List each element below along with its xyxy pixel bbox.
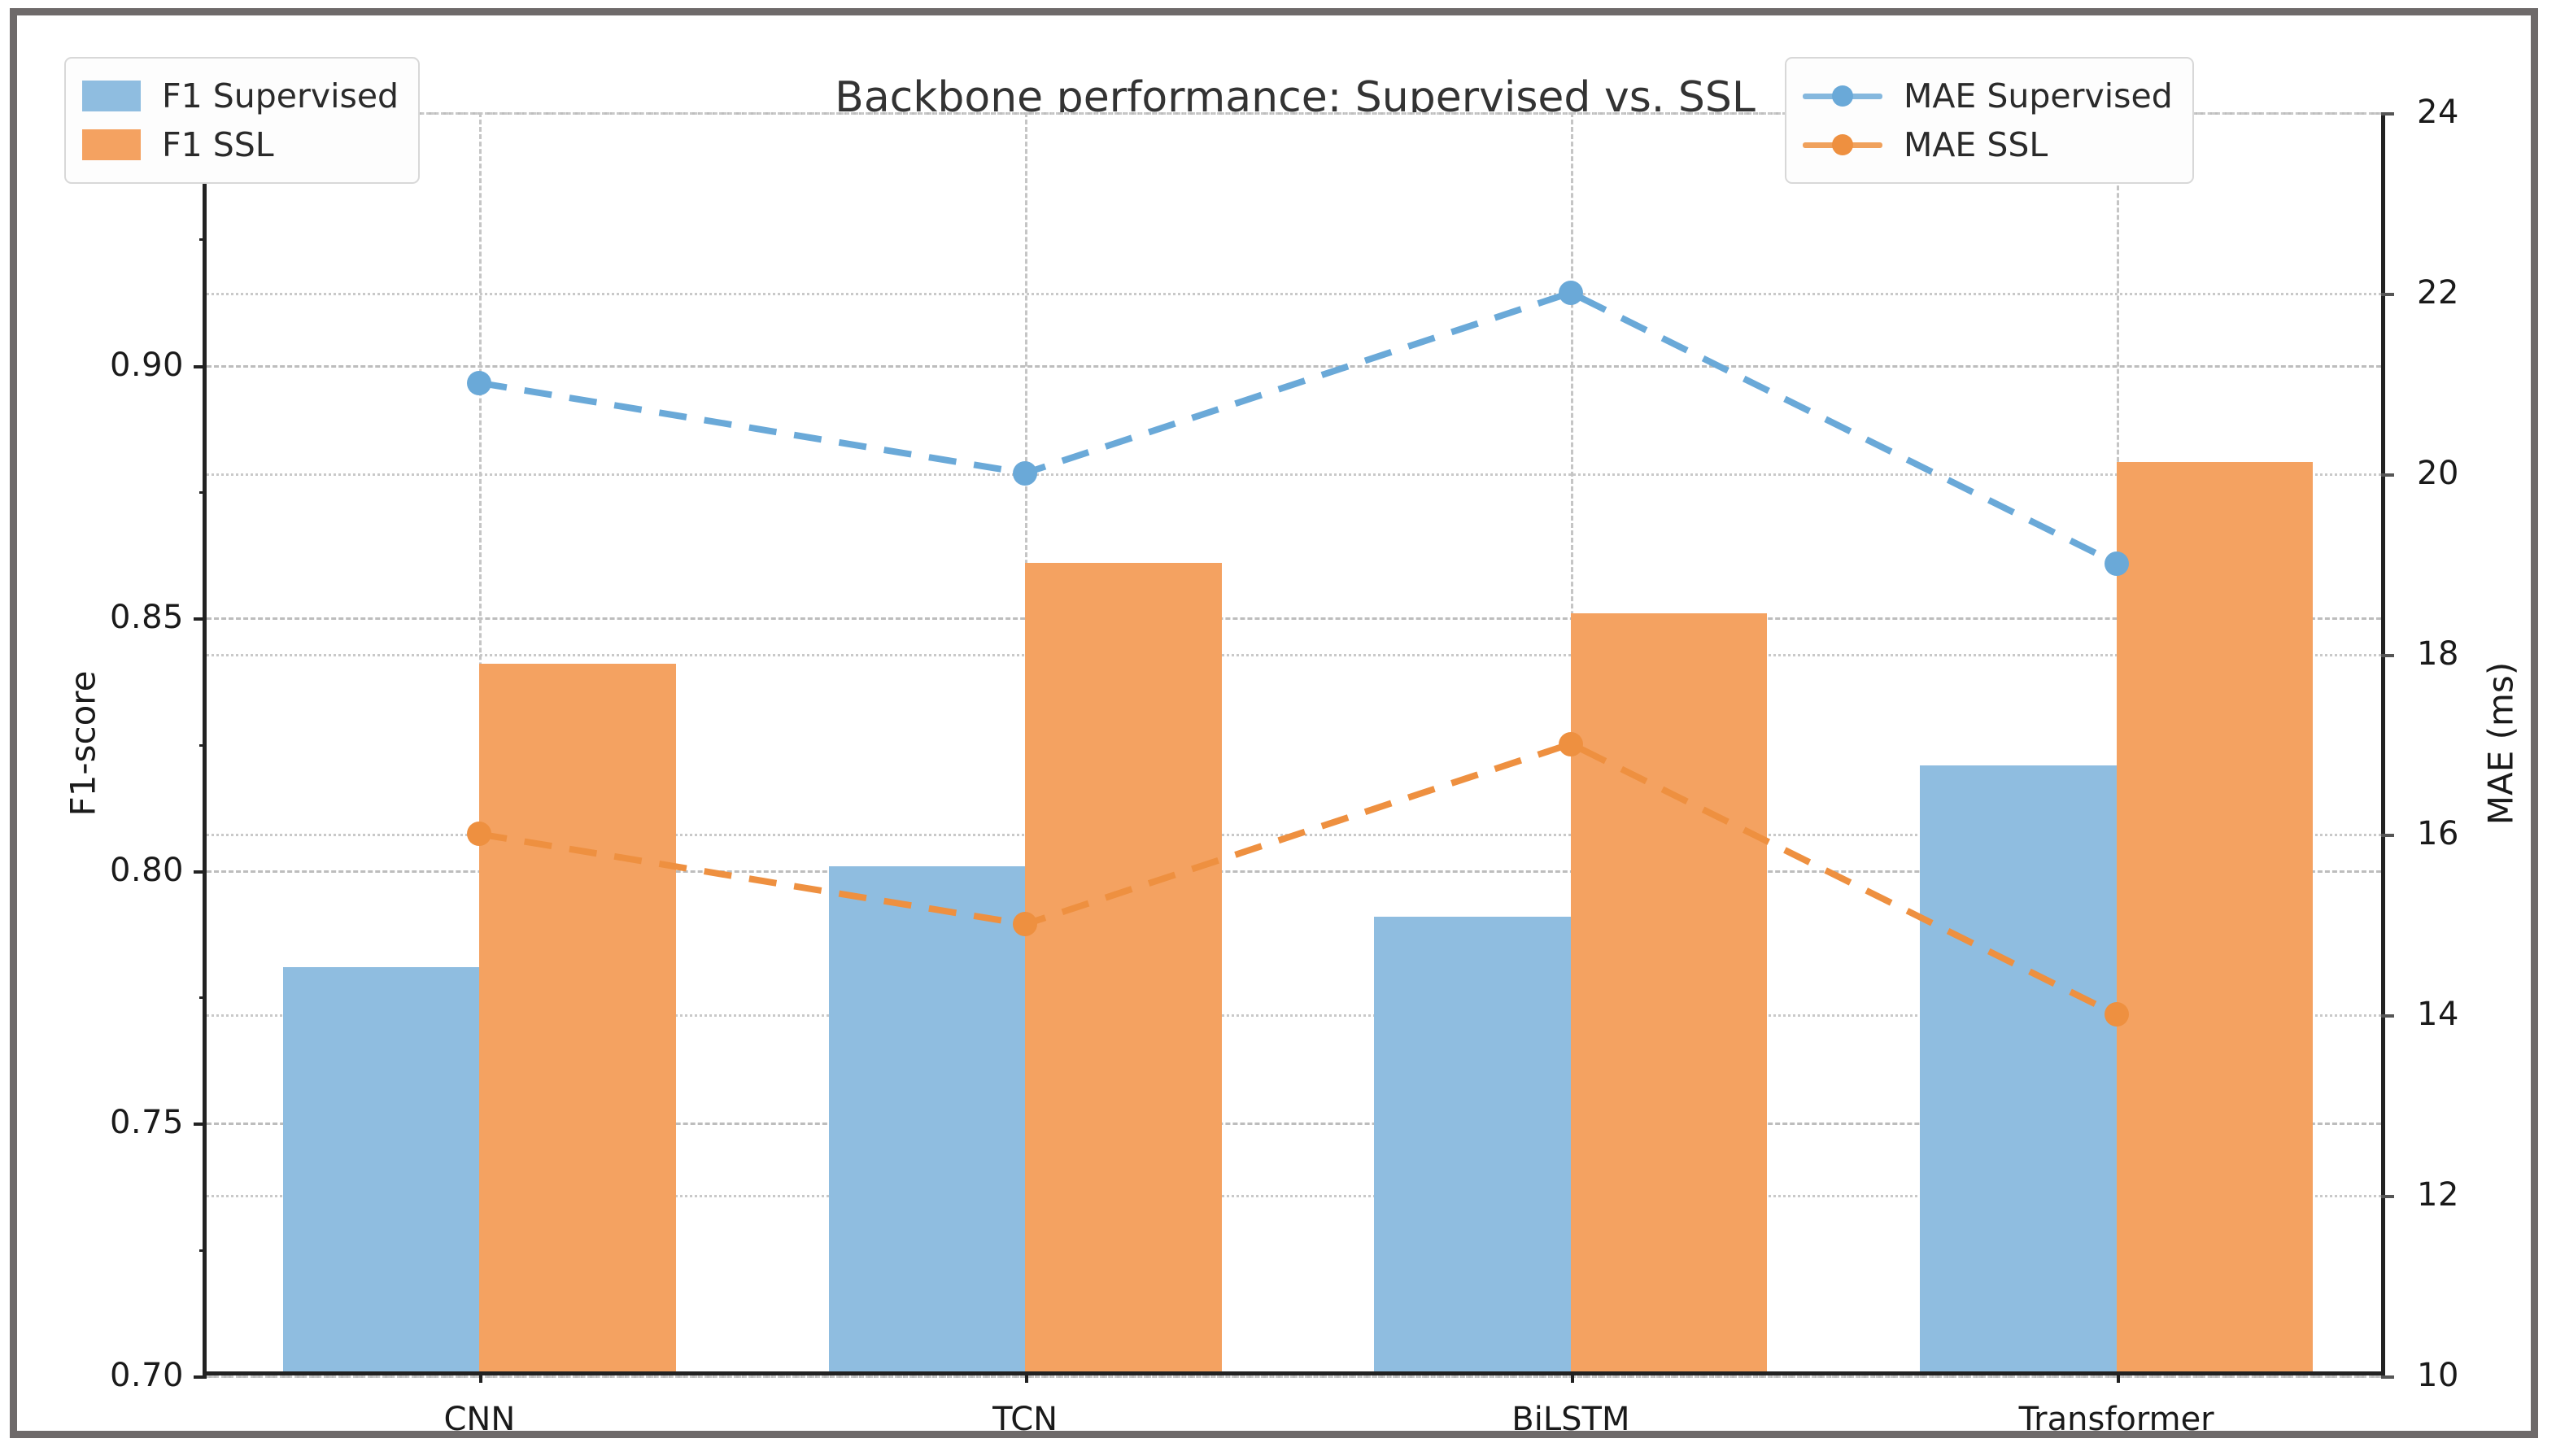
y-tick-label-right: 18	[2417, 635, 2459, 673]
gridline-horizontal	[207, 1375, 2381, 1378]
plot-inner: 0.700.750.800.850.900.95 101214161820222…	[207, 112, 2381, 1371]
legend-label-mae-supervised: MAE Supervised	[1904, 76, 2173, 116]
bar-cnn-f1-ssl	[479, 664, 675, 1371]
y-tick-label-right: 12	[2417, 1176, 2459, 1214]
legend-f1[interactable]: F1 Supervised F1 SSL	[64, 57, 420, 184]
y-tick-right	[2381, 293, 2394, 296]
y-tick-right	[2381, 473, 2394, 477]
marker-tcn-mae-supervised	[1013, 461, 1037, 486]
legend-label-f1-supervised: F1 Supervised	[162, 76, 399, 116]
y-tick-left-minor	[199, 491, 207, 494]
bar-tcn-f1-supervised	[829, 866, 1025, 1371]
chart-screenshot: Backbone performance: Supervised vs. SSL…	[0, 0, 2556, 1456]
y-tick-label-right: 20	[2417, 455, 2459, 492]
plot-area: 0.700.750.800.850.900.95 101214161820222…	[203, 112, 2385, 1375]
bar-tcn-f1-ssl	[1025, 563, 1221, 1371]
x-tick-label-bilstm: BiLSTM	[1511, 1401, 1629, 1438]
y-tick-right	[2381, 834, 2394, 837]
y-tick-right	[2381, 1014, 2394, 1018]
marker-bilstm-mae-supervised	[1559, 281, 1583, 305]
legend-item[interactable]: MAE SSL	[1803, 120, 2173, 169]
marker-transformer-mae-supervised	[2105, 551, 2129, 576]
y-tick-left-minor	[199, 996, 207, 999]
figure-canvas: Backbone performance: Supervised vs. SSL…	[34, 31, 2548, 1446]
x-tick-label-tcn: TCN	[992, 1401, 1058, 1438]
y-tick-left-minor	[199, 744, 207, 747]
legend-item[interactable]: F1 Supervised	[82, 72, 399, 120]
x-tick-mark	[1025, 1371, 1028, 1383]
legend-line-mae-ssl-icon	[1803, 129, 1882, 160]
y-tick-left	[194, 1375, 207, 1379]
x-tick-mark	[1571, 1371, 1574, 1383]
y-tick-label-left: 0.90	[110, 347, 184, 384]
legend-item[interactable]: F1 SSL	[82, 120, 399, 169]
y-tick-left	[194, 1123, 207, 1126]
y-tick-left	[194, 617, 207, 621]
figure-border: Backbone performance: Supervised vs. SSL…	[10, 8, 2538, 1438]
line-mae-supervised	[479, 293, 2116, 564]
gridline-horizontal	[207, 654, 2381, 656]
line-mae-ssl	[479, 744, 2116, 1015]
y-axis-label-left: F1-score	[63, 671, 103, 817]
y-tick-label-right: 10	[2417, 1357, 2459, 1394]
marker-bilstm-mae-ssl	[1559, 732, 1583, 756]
legend-swatch-f1-supervised-icon	[82, 81, 141, 111]
x-tick-label-transformer: Transformer	[2019, 1401, 2214, 1438]
y-tick-label-left: 0.80	[110, 852, 184, 889]
y-tick-label-left: 0.85	[110, 599, 184, 636]
x-tick-mark	[2117, 1371, 2120, 1383]
y-tick-label-right: 16	[2417, 815, 2459, 852]
bar-bilstm-f1-supervised	[1374, 917, 1570, 1371]
y-tick-label-left: 0.75	[110, 1104, 184, 1141]
legend-mae[interactable]: MAE Supervised MAE SSL	[1785, 57, 2194, 184]
legend-label-mae-ssl: MAE SSL	[1904, 125, 2048, 164]
y-tick-left-minor	[199, 1249, 207, 1252]
x-tick-mark	[479, 1371, 482, 1383]
y-tick-right	[2381, 654, 2394, 657]
gridline-horizontal	[207, 473, 2381, 476]
y-tick-right	[2381, 112, 2394, 116]
y-axis-label-right: MAE (ms)	[2481, 662, 2521, 825]
y-tick-right	[2381, 1375, 2394, 1379]
y-tick-right	[2381, 1195, 2394, 1198]
x-tick-label-cnn: CNN	[443, 1401, 515, 1438]
y-tick-label-right: 24	[2417, 94, 2459, 131]
bar-transformer-f1-ssl	[2117, 462, 2313, 1371]
marker-transformer-mae-ssl	[2105, 1002, 2129, 1027]
legend-label-f1-ssl: F1 SSL	[162, 125, 274, 164]
y-tick-label-left: 0.70	[110, 1357, 184, 1394]
gridline-horizontal	[207, 617, 2381, 620]
y-tick-label-right: 14	[2417, 996, 2459, 1033]
legend-swatch-f1-ssl-icon	[82, 129, 141, 160]
gridline-horizontal	[207, 365, 2381, 368]
gridline-horizontal	[207, 293, 2381, 295]
legend-item[interactable]: MAE Supervised	[1803, 72, 2173, 120]
marker-cnn-mae-supervised	[467, 371, 491, 395]
legend-line-mae-supervised-icon	[1803, 81, 1882, 111]
bar-cnn-f1-supervised	[283, 967, 479, 1371]
y-tick-label-right: 22	[2417, 274, 2459, 312]
y-tick-left	[194, 365, 207, 368]
bar-transformer-f1-supervised	[1920, 765, 2116, 1371]
y-tick-left	[194, 870, 207, 874]
bar-bilstm-f1-ssl	[1571, 613, 1767, 1371]
y-tick-left-minor	[199, 238, 207, 241]
